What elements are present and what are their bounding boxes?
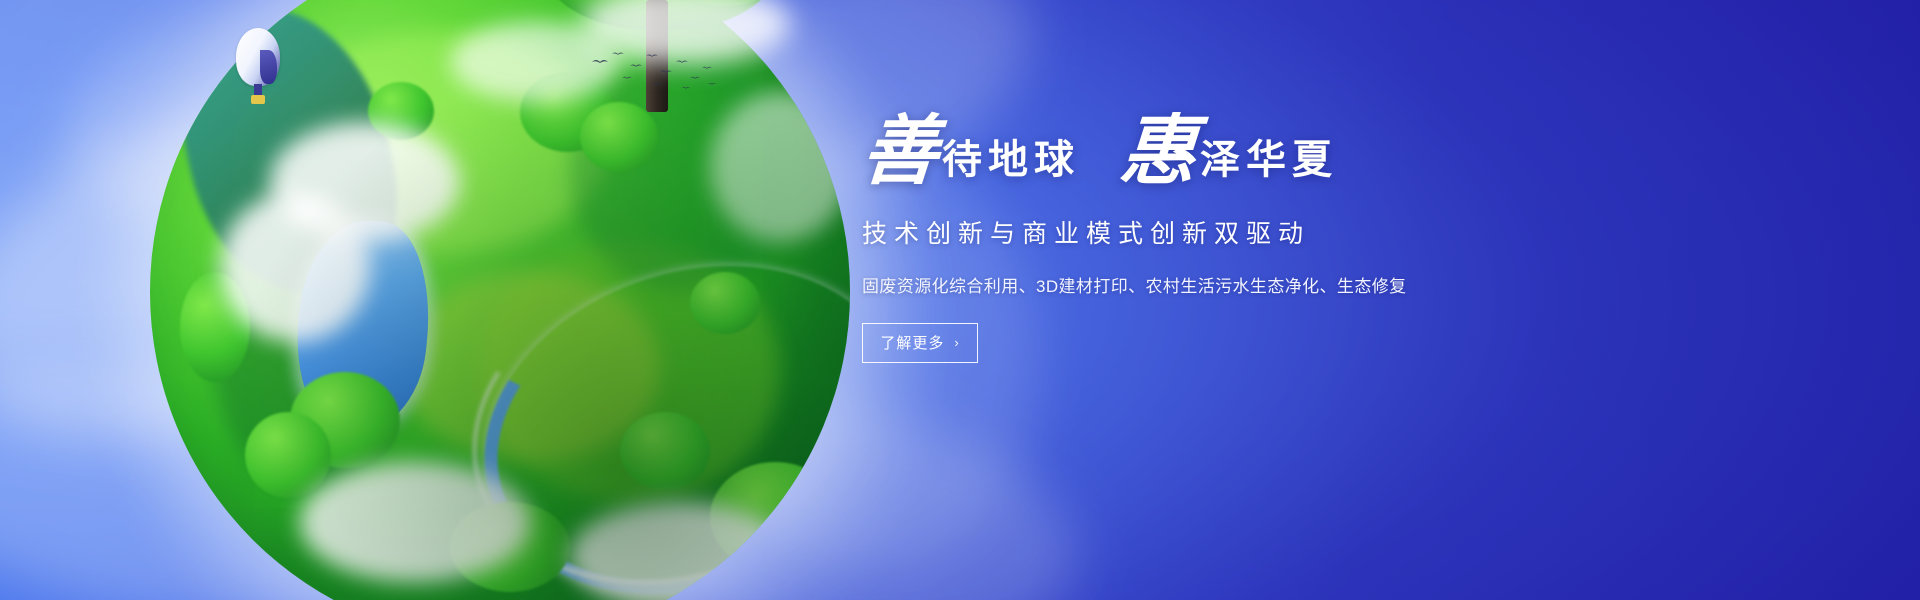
page-description: 固废资源化综合利用、3D建材打印、农村生活污水生态净化、生态修复 — [862, 272, 1502, 297]
page-subtitle: 技术创新与商业模式创新双驱动 — [862, 214, 1502, 250]
tree-cluster — [180, 272, 250, 382]
learn-more-label: 了解更多 — [880, 332, 944, 353]
tree-cluster — [620, 412, 710, 490]
tree-cluster — [290, 372, 400, 468]
cloud-shape — [710, 92, 850, 242]
mountain-ridge — [160, 0, 416, 312]
learn-more-button[interactable]: 了解更多 › — [862, 323, 978, 363]
lake-shape — [287, 214, 439, 441]
balloon-basket — [251, 95, 265, 104]
hero-content: 善 待地球 惠 泽华夏 技术创新与商业模式创新双驱动 固废资源化综合利用、3D建… — [862, 118, 1502, 363]
cloud-shape — [270, 122, 460, 242]
chevron-right-icon: › — [954, 336, 959, 349]
headline-rest-chars: 待地球 — [942, 140, 1080, 188]
balloon-envelope — [236, 28, 280, 86]
tree-cluster — [245, 412, 331, 498]
hero-banner: 善 待地球 惠 泽华夏 技术创新与商业模式创新双驱动 固废资源化综合利用、3D建… — [0, 0, 1920, 600]
tree-cluster — [580, 102, 658, 172]
hot-air-balloon-icon — [236, 28, 280, 116]
page-title: 善 待地球 惠 泽华夏 — [862, 118, 1502, 188]
terrain-patch — [210, 192, 410, 492]
tree-cluster — [450, 502, 570, 592]
tree-cluster — [368, 82, 434, 140]
headline-phrase-2: 惠 泽华夏 — [1120, 118, 1338, 188]
birds-icon — [590, 48, 720, 94]
terrain-patch — [480, 242, 780, 502]
cloud-shape — [300, 462, 530, 582]
headline-lead-char: 善 — [860, 118, 941, 188]
terrain-patch — [400, 272, 660, 462]
cloud-shape — [220, 192, 370, 342]
headline-lead-char: 惠 — [1118, 118, 1199, 188]
headline-rest-chars: 泽华夏 — [1200, 140, 1338, 188]
headline-phrase-1: 善 待地球 — [862, 118, 1080, 188]
tree-cluster — [690, 272, 760, 334]
lake-shore — [345, 239, 431, 436]
cloud-shape — [570, 502, 790, 600]
